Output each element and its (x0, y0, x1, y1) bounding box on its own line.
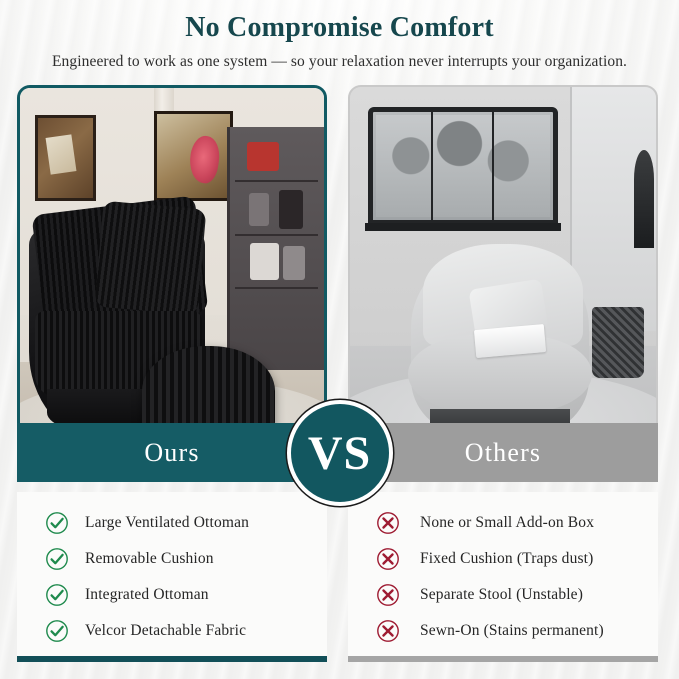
photo-others (350, 87, 656, 480)
band-label-others: Others (465, 438, 542, 468)
band-ours: Ours (17, 423, 327, 482)
window (368, 107, 558, 225)
open-book (474, 324, 547, 358)
window-view (376, 115, 550, 217)
feature-label: Fixed Cushion (Traps dust) (420, 550, 593, 568)
wall-art-left (35, 115, 96, 201)
x-circle-icon (376, 583, 400, 607)
feature-list-others: None or Small Add-on Box Fixed Cushion (… (348, 492, 658, 662)
check-circle-icon (45, 511, 69, 535)
photo-ours (20, 88, 324, 479)
feature-label: Velcor Detachable Fabric (85, 622, 246, 640)
list-item: Integrated Ottoman (17, 577, 327, 613)
feature-list-ours: Large Ventilated Ottoman Removable Cushi… (17, 492, 327, 662)
feature-label: Removable Cushion (85, 550, 214, 568)
feature-label: Sewn-On (Stains permanent) (420, 622, 604, 640)
check-circle-icon (45, 583, 69, 607)
fireplace-mantel (570, 87, 656, 331)
chair-back-cushion-right (95, 201, 207, 315)
comparison-infographic: No Compromise Comfort Engineered to work… (0, 0, 679, 679)
list-item: Fixed Cushion (Traps dust) (348, 541, 658, 577)
page-subtitle: Engineered to work as one system — so yo… (0, 44, 679, 71)
feature-label: Separate Stool (Unstable) (420, 586, 583, 604)
x-circle-icon (376, 511, 400, 535)
feature-label: Large Ventilated Ottoman (85, 514, 249, 532)
woven-basket (592, 307, 644, 378)
display-cabinet (227, 127, 324, 369)
vs-label: VS (308, 426, 371, 481)
window-sill (365, 223, 561, 231)
wall-art-flamingo (154, 111, 233, 201)
list-item: Velcor Detachable Fabric (17, 613, 327, 649)
band-others: Others (348, 423, 658, 482)
list-item: Sewn-On (Stains permanent) (348, 613, 658, 649)
feature-label: Integrated Ottoman (85, 586, 209, 604)
page-title: No Compromise Comfort (0, 0, 679, 44)
list-item: Separate Stool (Unstable) (348, 577, 658, 613)
feature-lists: Large Ventilated Ottoman Removable Cushi… (17, 492, 662, 662)
list-item: Large Ventilated Ottoman (17, 505, 327, 541)
check-circle-icon (45, 619, 69, 643)
vs-badge: VS (287, 400, 393, 506)
check-circle-icon (45, 547, 69, 571)
fireplace-opening (634, 150, 654, 247)
x-circle-icon (376, 619, 400, 643)
feature-label: None or Small Add-on Box (420, 514, 594, 532)
x-circle-icon (376, 547, 400, 571)
list-item: None or Small Add-on Box (348, 505, 658, 541)
band-label-ours: Ours (144, 438, 199, 468)
list-item: Removable Cushion (17, 541, 327, 577)
